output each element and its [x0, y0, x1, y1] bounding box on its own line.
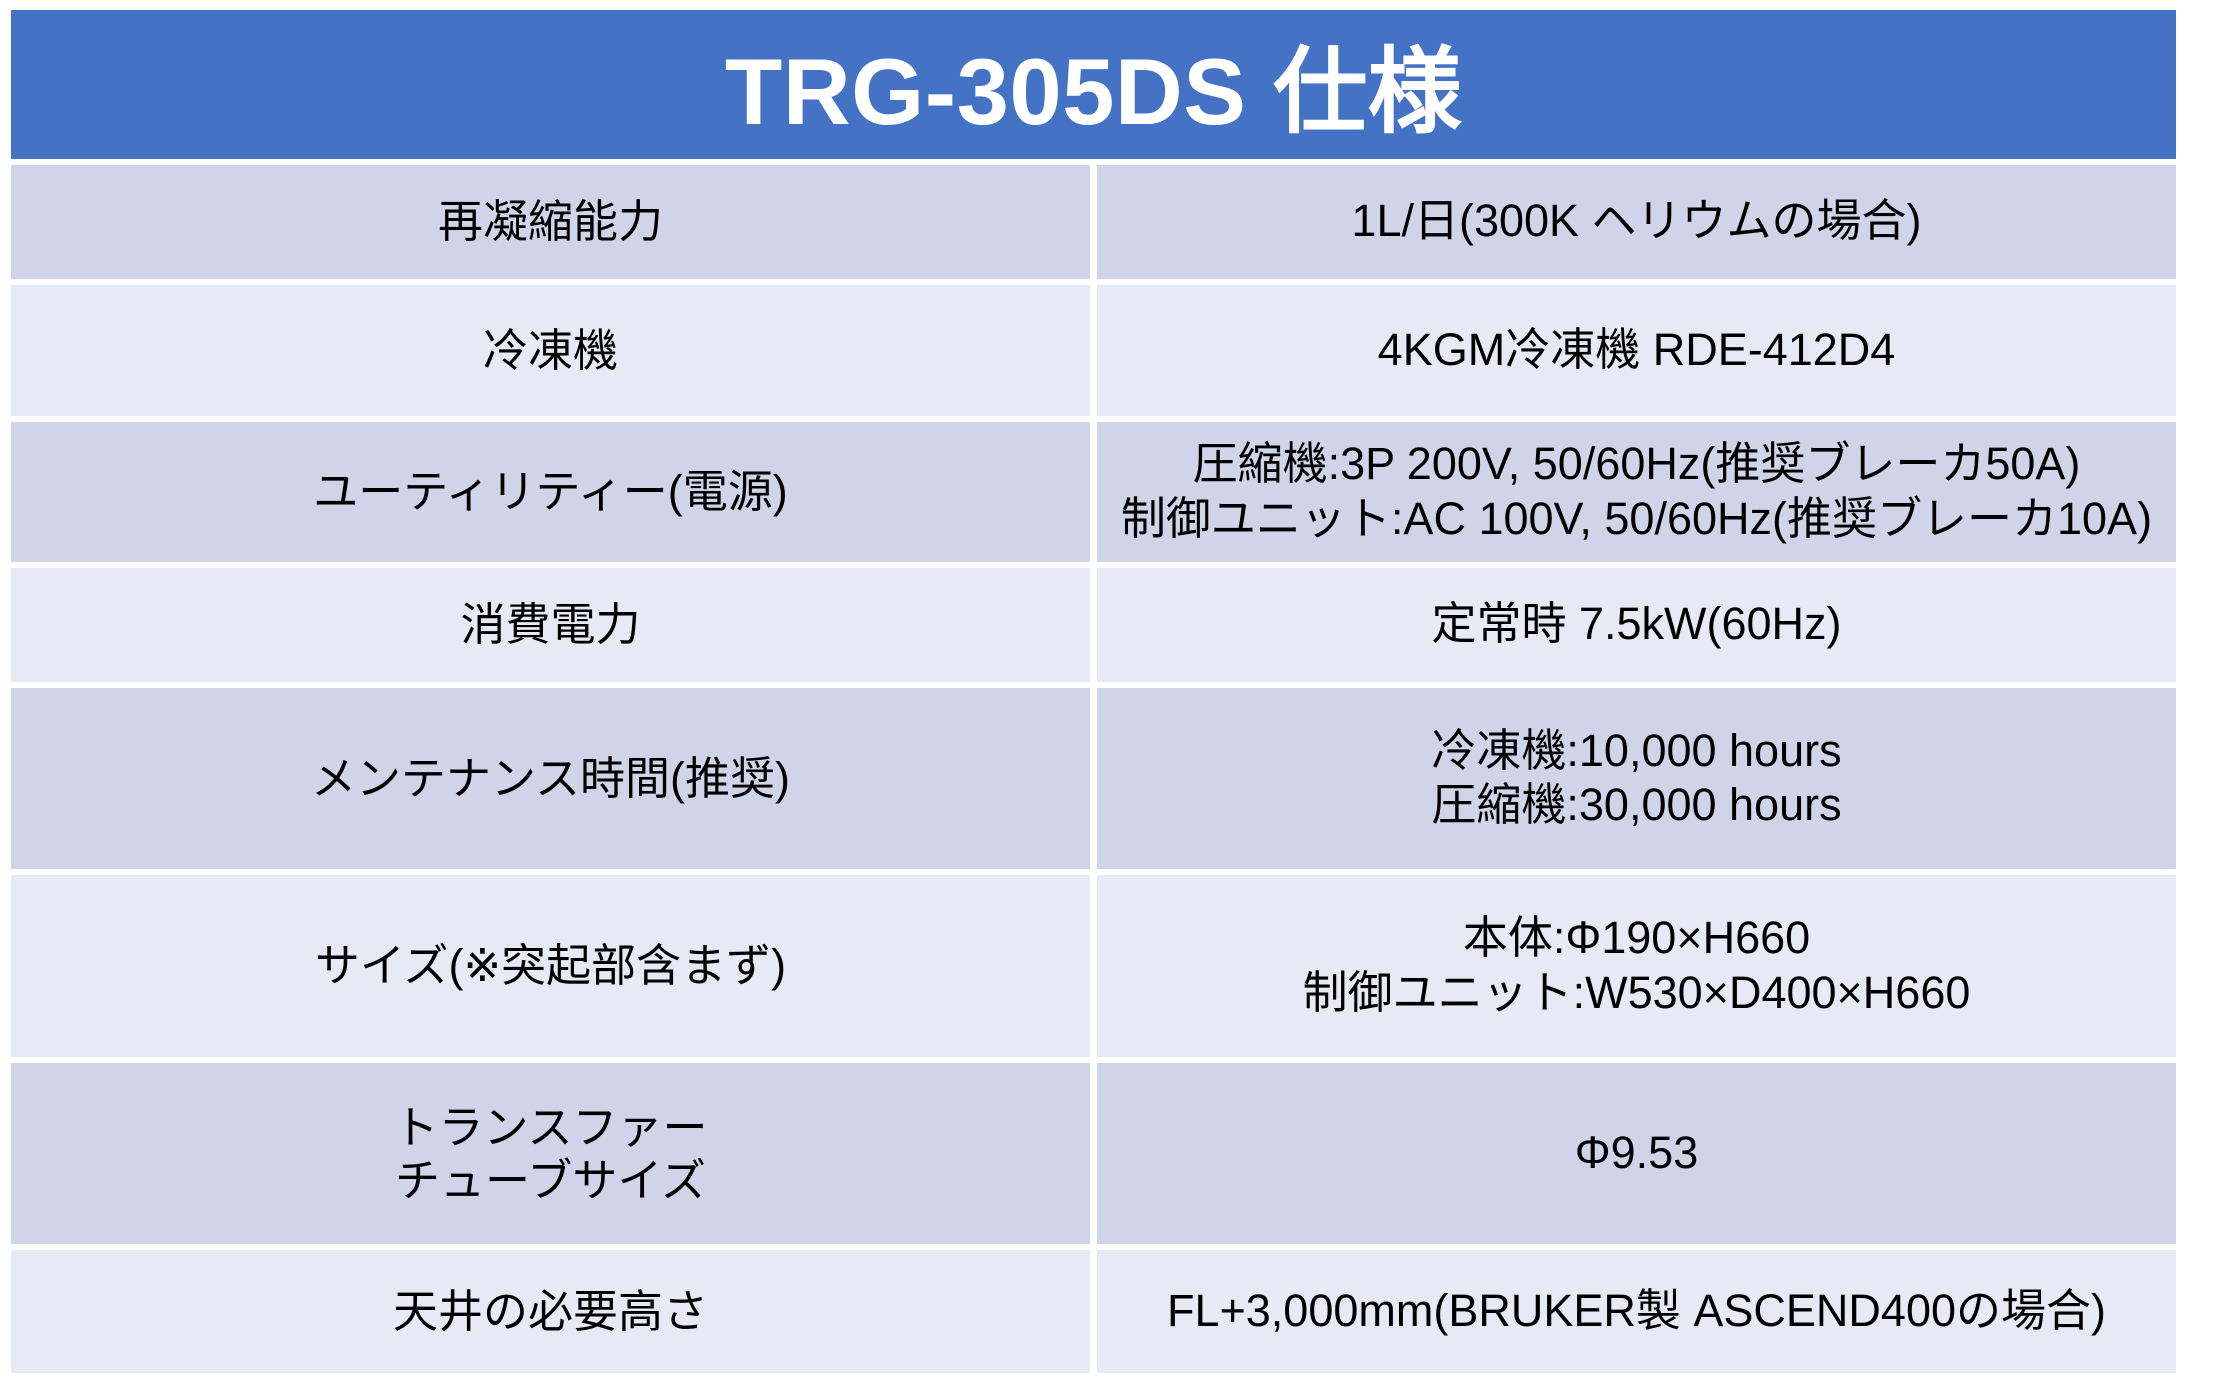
row-label-maintenance-interval: メンテナンス時間(推奨)	[11, 688, 1090, 870]
row-label-transfer-tube-size: トランスファー チューブサイズ	[11, 1063, 1090, 1245]
value-line: 冷凍機:10,000 hours	[1105, 724, 2168, 779]
value-line: 本体:Φ190×H660	[1105, 911, 2168, 966]
value-line: 制御ユニット:W530×D400×H660	[1105, 966, 2168, 1021]
row-value-maintenance-interval: 冷凍機:10,000 hours 圧縮機:30,000 hours	[1097, 688, 2176, 870]
label-line: メンテナンス時間(推奨)	[15, 752, 1086, 805]
label-line: チューブサイズ	[15, 1154, 1086, 1207]
value-line: 定常時 7.5kW(60Hz)	[1105, 597, 2168, 652]
row-label-cryocooler: 冷凍機	[11, 285, 1090, 416]
row-label-recondensation-capacity: 再凝縮能力	[11, 165, 1090, 279]
value-line: 1L/日(300K ヘリウムの場合)	[1105, 194, 2168, 249]
row-label-required-ceiling-height: 天井の必要高さ	[11, 1250, 1090, 1373]
table-row: トランスファー チューブサイズ Φ9.53	[11, 1063, 2176, 1245]
row-value-size: 本体:Φ190×H660 制御ユニット:W530×D400×H660	[1097, 875, 2176, 1057]
row-value-power-consumption: 定常時 7.5kW(60Hz)	[1097, 568, 2176, 682]
title-row: TRG-305DS 仕様	[11, 10, 2176, 159]
label-line: ユーティリティー(電源)	[15, 465, 1086, 518]
table-row: メンテナンス時間(推奨) 冷凍機:10,000 hours 圧縮機:30,000…	[11, 688, 2176, 870]
table-row: 冷凍機 4KGM冷凍機 RDE-412D4	[11, 285, 2176, 416]
label-line: トランスファー	[15, 1101, 1086, 1154]
row-label-utility-power: ユーティリティー(電源)	[11, 422, 1090, 562]
value-line: 制御ユニット:AC 100V, 50/60Hz(推奨ブレーカ10A)	[1105, 492, 2168, 547]
label-line: 再凝縮能力	[15, 195, 1086, 248]
spec-sheet-page: TRG-305DS 仕様 再凝縮能力 1L/日(300K ヘリウムの場合) 冷凍…	[0, 0, 2213, 1393]
value-line: 4KGM冷凍機 RDE-412D4	[1105, 323, 2168, 378]
label-line: 消費電力	[15, 598, 1086, 651]
label-line: 冷凍機	[15, 324, 1086, 377]
value-line: Φ9.53	[1105, 1126, 2168, 1181]
row-label-power-consumption: 消費電力	[11, 568, 1090, 682]
row-value-cryocooler: 4KGM冷凍機 RDE-412D4	[1097, 285, 2176, 416]
row-value-recondensation-capacity: 1L/日(300K ヘリウムの場合)	[1097, 165, 2176, 279]
table-row: ユーティリティー(電源) 圧縮機:3P 200V, 50/60Hz(推奨ブレーカ…	[11, 422, 2176, 562]
value-line: 圧縮機:30,000 hours	[1105, 778, 2168, 833]
row-value-required-ceiling-height: FL+3,000mm(BRUKER製 ASCEND400の場合)	[1097, 1250, 2176, 1373]
table-body: TRG-305DS 仕様 再凝縮能力 1L/日(300K ヘリウムの場合) 冷凍…	[11, 10, 2176, 1373]
table-row: 天井の必要高さ FL+3,000mm(BRUKER製 ASCEND400の場合)	[11, 1250, 2176, 1373]
row-label-size: サイズ(※突起部含まず)	[11, 875, 1090, 1057]
label-line: 天井の必要高さ	[15, 1285, 1086, 1338]
value-line: 圧縮機:3P 200V, 50/60Hz(推奨ブレーカ50A)	[1105, 437, 2168, 492]
table-row: 消費電力 定常時 7.5kW(60Hz)	[11, 568, 2176, 682]
label-line: サイズ(※突起部含まず)	[15, 939, 1086, 992]
table-row: サイズ(※突起部含まず) 本体:Φ190×H660 制御ユニット:W530×D4…	[11, 875, 2176, 1057]
table-row: 再凝縮能力 1L/日(300K ヘリウムの場合)	[11, 165, 2176, 279]
row-value-transfer-tube-size: Φ9.53	[1097, 1063, 2176, 1245]
value-line: FL+3,000mm(BRUKER製 ASCEND400の場合)	[1105, 1284, 2168, 1339]
row-value-utility-power: 圧縮機:3P 200V, 50/60Hz(推奨ブレーカ50A) 制御ユニット:A…	[1097, 422, 2176, 562]
page-title: TRG-305DS 仕様	[11, 10, 2176, 159]
specification-table: TRG-305DS 仕様 再凝縮能力 1L/日(300K ヘリウムの場合) 冷凍…	[4, 4, 2183, 1379]
